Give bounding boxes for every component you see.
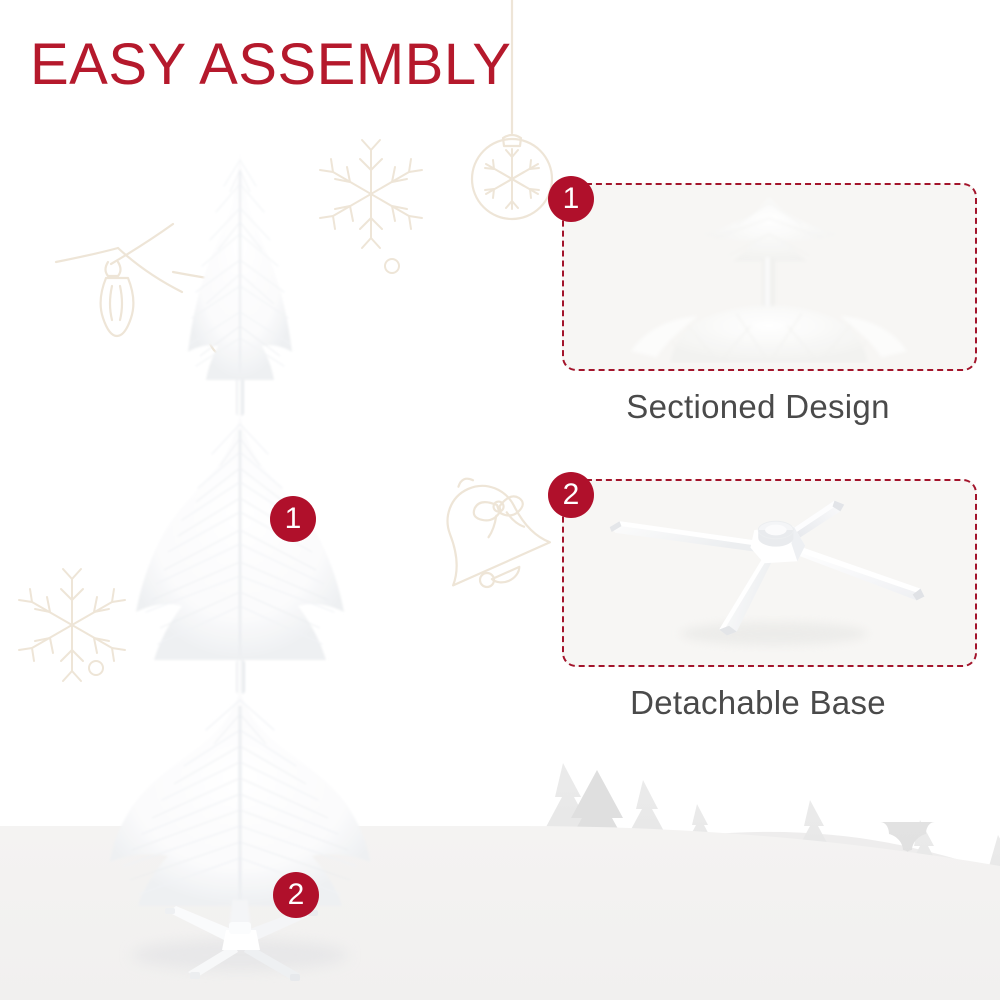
bell-icon <box>415 458 557 602</box>
string-lights-icon <box>56 224 237 354</box>
feature-badge-1: 1 <box>548 176 594 222</box>
feature-photo-sectioned-design <box>570 191 969 363</box>
feature-photo-detachable-base <box>570 487 969 659</box>
tree-section-top <box>188 152 292 416</box>
feature-badge-2: 2 <box>548 472 594 518</box>
tree-ground-shadow <box>132 939 348 971</box>
forest-tree-primary <box>525 770 669 988</box>
snow-ground <box>0 826 1000 1000</box>
tree-section-middle <box>136 414 344 694</box>
feature-card-2-frame <box>562 479 977 667</box>
forest-silhouette-near <box>528 805 970 1000</box>
hero-marker-1: 1 <box>270 496 316 542</box>
feature-caption-1: Sectioned Design <box>548 388 968 426</box>
page-title: EASY ASSEMBLY <box>30 34 512 96</box>
forest-silhouette-far <box>525 763 1000 943</box>
snowflake-icon-top <box>320 140 422 273</box>
feature-card-1-frame <box>562 183 977 371</box>
hero-marker-2: 2 <box>273 872 319 918</box>
snow-hill-far <box>520 832 1000 1000</box>
feature-card-1[interactable]: 1 Sectioned Design <box>548 176 968 421</box>
feature-caption-2: Detachable Base <box>548 684 968 722</box>
infographic-canvas: 1 2 EASY ASSEMBLY <box>0 0 1000 1000</box>
snowflake-icon-left <box>19 569 125 681</box>
feature-card-2[interactable]: 2 Detachable Base <box>548 472 968 717</box>
tree-section-bottom <box>110 690 370 934</box>
hero-product-photo <box>0 0 520 1000</box>
